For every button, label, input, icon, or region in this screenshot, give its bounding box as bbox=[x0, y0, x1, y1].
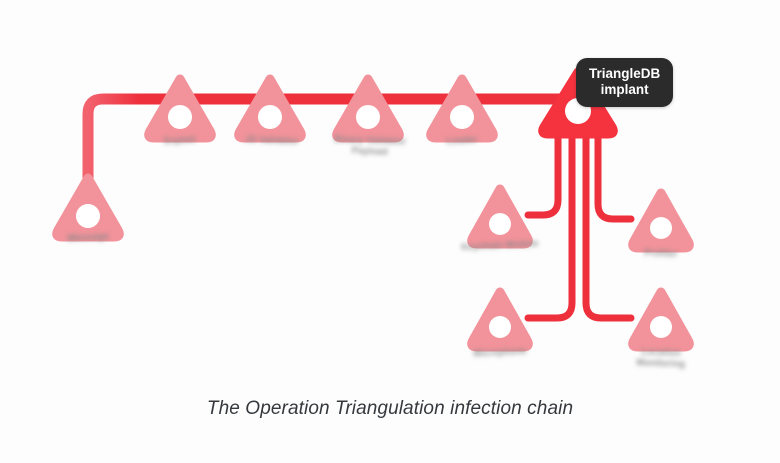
node-hole bbox=[650, 316, 672, 338]
node-hole bbox=[76, 204, 100, 228]
node-stage-2[interactable] bbox=[239, 79, 302, 138]
node-stage-4[interactable] bbox=[431, 79, 494, 138]
node-hole bbox=[489, 316, 511, 338]
figure-caption: The Operation Triangulation infection ch… bbox=[0, 398, 780, 420]
node-hole bbox=[450, 105, 474, 129]
node-hole bbox=[258, 105, 282, 129]
node-hole bbox=[356, 105, 380, 129]
node-stage-3[interactable] bbox=[337, 79, 400, 138]
node-module-1[interactable] bbox=[472, 189, 529, 244]
node-stage-1[interactable] bbox=[149, 79, 212, 138]
node-hole bbox=[650, 217, 672, 239]
node-module-3[interactable] bbox=[472, 292, 529, 347]
connector-implant-to-module-3 bbox=[528, 122, 572, 318]
tooltip-triangledb-implant: TriangleDB implant bbox=[576, 58, 673, 107]
infection-chain-figure: iMessage Exploit JS Validator Binary Val… bbox=[0, 0, 780, 463]
node-hole bbox=[168, 105, 192, 129]
node-stage-0[interactable] bbox=[57, 178, 120, 237]
node-module-2[interactable] bbox=[633, 193, 690, 248]
node-module-4[interactable] bbox=[633, 292, 690, 347]
node-hole bbox=[489, 213, 511, 235]
